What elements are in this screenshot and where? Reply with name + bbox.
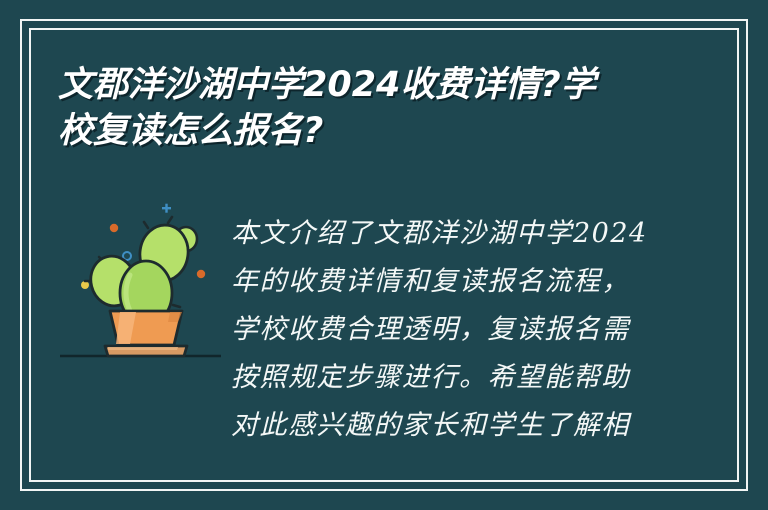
sparkle-plus-blue-icon bbox=[162, 204, 171, 213]
body-line-3: 学校收费合理透明，复读报名需 bbox=[231, 306, 651, 354]
dot-orange-right-icon bbox=[197, 270, 205, 278]
title-line-1: 文郡洋沙湖中学2024收费详情?学 bbox=[58, 62, 678, 108]
body-line-2: 年的收费详情和复读报名流程， bbox=[231, 258, 651, 306]
article-summary: 本文介绍了文郡洋沙湖中学2024 年的收费详情和复读报名流程， 学校收费合理透明… bbox=[231, 210, 651, 450]
title-line-2: 校复读怎么报名? bbox=[58, 108, 678, 154]
body-line-1: 本文介绍了文郡洋沙湖中学2024 bbox=[231, 210, 651, 258]
page-title: 文郡洋沙湖中学2024收费详情?学 校复读怎么报名? bbox=[58, 62, 678, 154]
body-line-4: 按照规定步骤进行。希望能帮助 bbox=[231, 354, 651, 402]
pot-base-highlight bbox=[108, 347, 178, 350]
dot-orange-upper-icon bbox=[110, 224, 118, 232]
body-line-5: 对此感兴趣的家长和学生了解相 bbox=[231, 402, 651, 450]
potted-cactus-illustration bbox=[58, 195, 223, 370]
poster-canvas: 文郡洋沙湖中学2024收费详情?学 校复读怎么报名? bbox=[0, 0, 768, 510]
